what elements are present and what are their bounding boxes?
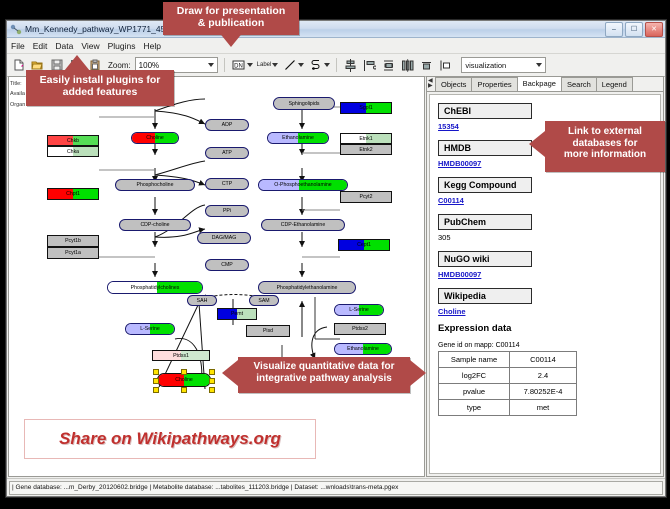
node-label: L-Serine [140,326,160,332]
window-titlebar: Mm_Kennedy_pathway_WP1771_45176.gpml – ☐… [7,21,665,38]
window-buttons: – ☐ ✕ [605,22,663,37]
gene-pcyt1b[interactable]: Pcyt1b [47,235,99,247]
gene-label: Pcyt1a [65,250,81,256]
gene-pisd[interactable]: Pisd [246,325,290,337]
db-head-wikipedia: Wikipedia [438,288,532,304]
db-block-nugo-wiki: NuGO wiki HMDB00097 [438,249,652,279]
db-head-pubchem: PubChem [438,214,532,230]
selection-handle[interactable] [181,387,187,393]
distribute-horizontal-icon[interactable] [400,58,415,73]
gene-etnk1[interactable]: Etnk1 [340,133,392,144]
selection-handle[interactable] [153,369,159,375]
gene-label: Sgpl1 [359,105,372,111]
db-head-chebi: ChEBI [438,103,532,119]
gene-label: Pcyt2 [360,194,373,200]
node-label: CMP [221,262,233,268]
gene-label: Etnk2 [359,147,372,153]
chevron-down-icon[interactable] [272,63,278,67]
visualization-value: visualization [465,61,506,70]
node-cmp[interactable]: CMP [205,259,249,271]
menu-file[interactable]: File [11,41,25,51]
callout-link-arrow [529,131,545,157]
line-tool[interactable] [282,58,304,73]
new-file-icon[interactable] [11,58,26,73]
gene-label: Etnk1 [359,136,372,142]
gene-label: Ptdss2 [352,326,368,332]
svg-text:DN: DN [234,63,243,69]
node-ppi[interactable]: PPi [205,205,249,217]
table-row: log2FC 2.4 [439,368,577,384]
callout-plugins-arrow [64,55,90,71]
db-value-pubchem: 305 [438,233,652,242]
db-head-hmdb: HMDB [438,140,532,156]
expression-data-heading: Expression data [438,323,652,334]
statusbar: | Gene database: ...m_Derby_20120602.bri… [7,478,665,496]
share-banner: Share on Wikipathways.org [24,419,316,459]
line-icon[interactable] [282,58,297,73]
pathvisio-icon [10,24,22,35]
maximize-button[interactable]: ☐ [625,22,643,37]
expr-val-sample-name: C00114 [510,352,577,368]
node-ctp[interactable]: CTP [205,178,249,190]
table-row: pvalue 7.80252E-4 [439,384,577,400]
db-link-wikipedia[interactable]: Choline [438,307,652,316]
node-label: Phosphatidylethanolamine [277,285,338,291]
gene-chpt1[interactable]: Chpt1 [47,188,99,200]
chevron-down-icon [208,63,214,67]
gene-label: Cept1 [357,242,371,248]
node-ethanolamine[interactable]: Ethanolamine [267,132,329,144]
tab-backpage[interactable]: Backpage [517,76,562,91]
chevron-down-icon[interactable] [298,63,304,67]
db-link-nugo-wiki[interactable]: HMDB00097 [438,270,652,279]
node-choline-top[interactable]: Choline [131,132,179,144]
node-label: ADP [222,122,233,128]
chevron-down-icon[interactable] [247,63,253,67]
tab-objects[interactable]: Objects [435,77,472,91]
callout-link: Link to external databases for more info… [545,121,665,172]
expr-val-pvalue: 7.80252E-4 [510,384,577,400]
shape-icon[interactable] [308,58,323,73]
tab-scroll-arrows[interactable]: ◀▶ [428,79,433,89]
minimize-button[interactable]: – [605,22,623,37]
gene-ptdss2[interactable]: Ptdss2 [334,323,386,335]
tab-legend[interactable]: Legend [596,77,633,91]
node-atp[interactable]: ATP [205,147,249,159]
gene-label: Ptdss1 [173,353,189,359]
node-label: SAM [258,298,269,304]
expr-key-sample-name: Sample name [439,352,510,368]
selection-handle[interactable] [209,378,215,384]
gene-etnk2[interactable]: Etnk2 [340,144,392,155]
node-label: CDP-choline [140,222,169,228]
node-label: L-Serine [349,307,369,313]
db-head-kegg-compound: Kegg Compound [438,177,532,193]
node-phosphatidylcholines[interactable]: Phosphatidylcholines [107,281,203,294]
node-o-phosphoethanolamine[interactable]: O-Phosphoethanolamine [258,179,348,191]
gene-id-line: Gene id on mapp: C00114 [438,342,652,349]
callout-plugins: Easily install plugins for added feature… [26,70,174,106]
expr-key-type: type [439,400,510,416]
screenshot-root: Mm_Kennedy_pathway_WP1771_45176.gpml – ☐… [0,0,670,509]
callout-visualize-line2: integrative pathway analysis [238,373,410,385]
gene-chka[interactable]: Chka [47,146,99,157]
callout-visualize-line1: Visualize quantitative data for [238,361,410,373]
callout-visualize-arrow-left [222,360,238,386]
table-row: type met [439,400,577,416]
align-left-icon[interactable] [362,58,377,73]
menubar: File Edit Data View Plugins Help [7,38,665,54]
stack-icon[interactable] [419,58,434,73]
node-cdp-ethanolamine[interactable]: CDP-Ethanolamine [261,219,345,231]
expr-val-log2fc: 2.4 [510,368,577,384]
node-label: Phosphatidylcholines [131,285,180,291]
shape-tool[interactable] [308,58,330,73]
zoom-label: Zoom: [108,61,131,70]
pathway-canvas[interactable]: Title: Availa Organ [8,76,425,477]
gene-label: Chpt1 [66,191,80,197]
menu-view[interactable]: View [81,41,99,51]
db-block-pubchem: PubChem 305 [438,212,652,242]
gene-label: Pemt [231,311,243,317]
gene-pcyt2[interactable]: Pcyt2 [340,191,392,203]
selection-handle[interactable] [209,369,215,375]
node-label: Ethanolamine [347,346,379,352]
node-ethanolamine-right[interactable]: Ethanolamine [334,343,392,355]
callout-plugins-line1: Easily install plugins for [26,74,174,86]
node-label: Sphingolipids [289,101,320,107]
db-link-kegg-compound[interactable]: C00114 [438,196,652,205]
callout-draw-line1: Draw for presentation [163,5,299,17]
callout-link-line2: databases for [545,138,665,150]
statusbar-text: | Gene database: ...m_Derby_20120602.bri… [9,481,663,495]
node-label: SAH [197,298,208,304]
node-label: Phosphocholine [137,182,174,188]
gene-pcyt1a[interactable]: Pcyt1a [47,247,99,259]
expression-table: Sample name C00114 log2FC 2.4 pvalue 7.8… [438,351,577,416]
node-label: DAG/MAG [212,235,237,241]
node-adp[interactable]: ADP [205,119,249,131]
node-label: Choline [146,135,164,141]
node-choline-selected[interactable]: Choline [157,373,211,387]
callout-draw-line2: & publication [163,17,299,29]
datanode-icon[interactable]: DN [231,58,246,73]
db-head-nugo-wiki: NuGO wiki [438,251,532,267]
node-phosphocholine[interactable]: Phosphocholine [115,179,195,191]
callout-visualize-arrow-right [410,360,426,386]
node-phosphatidylethanolamine[interactable]: Phosphatidylethanolamine [258,281,356,294]
gene-label: Chkb [67,138,79,144]
label-tool[interactable]: Label [257,62,279,68]
db-block-wikipedia: Wikipedia Choline [438,286,652,316]
gene-sgpl1[interactable]: Sgpl1 [340,102,392,114]
toolbar-separator [336,58,337,72]
zoom-value: 100% [139,61,159,70]
close-button[interactable]: ✕ [645,22,663,37]
expr-key-log2fc: log2FC [439,368,510,384]
gene-ptdss1[interactable]: Ptdss1 [152,350,210,361]
expr-val-type: met [510,400,577,416]
tab-properties[interactable]: Properties [471,77,517,91]
selection-handle[interactable] [181,369,187,375]
node-cdp-choline[interactable]: CDP-choline [119,219,191,231]
gene-cept1[interactable]: Cept1 [338,239,390,251]
node-label: ATP [222,150,232,156]
menu-help[interactable]: Help [144,41,161,51]
gene-label: Chka [67,149,79,155]
node-label: CDP-Ethanolamine [281,222,325,228]
menu-plugins[interactable]: Plugins [108,41,136,51]
callout-link-line3: more information [545,149,665,161]
distribute-vertical-icon[interactable] [381,58,396,73]
side-panel-tabs: ◀▶ Objects Properties Backpage Search Le… [427,77,663,92]
menu-data[interactable]: Data [55,41,73,51]
menu-edit[interactable]: Edit [33,41,48,51]
chevron-down-icon [536,63,542,67]
selection-handle[interactable] [153,387,159,393]
callout-link-line1: Link to external [545,126,665,138]
chevron-down-icon[interactable] [324,63,330,67]
node-l-serine-right[interactable]: L-Serine [334,304,384,316]
node-label: Choline [175,377,193,383]
selection-handle[interactable] [209,387,215,393]
group-icon[interactable] [438,58,453,73]
callout-draw-arrow [218,31,244,47]
callout-visualize: Visualize quantitative data for integrat… [238,357,410,393]
datanode-tool[interactable]: DN [231,58,253,73]
table-row: Sample name C00114 [439,352,577,368]
toolbar-separator [224,58,225,72]
node-sphingolipids[interactable]: Sphingolipids [273,97,335,110]
gene-label: Pisd [263,328,273,334]
expr-key-pvalue: pvalue [439,384,510,400]
align-center-icon[interactable] [343,58,358,73]
share-text: Share on Wikipathways.org [59,429,281,449]
node-label: CTP [222,181,232,187]
visualization-select[interactable]: visualization [461,57,546,73]
db-block-kegg-compound: Kegg Compound C00114 [438,175,652,205]
node-label: Ethanolamine [282,135,314,141]
gene-label: Pcyt1b [65,238,81,244]
node-label: O-Phosphoethanolamine [274,182,331,188]
node-sah[interactable]: SAH [187,295,217,306]
gene-pemt[interactable]: Pemt [217,308,257,320]
node-label: PPi [223,208,231,214]
selection-handle[interactable] [153,378,159,384]
tab-search[interactable]: Search [561,77,597,91]
label-tool-text: Label [257,62,272,68]
node-sam[interactable]: SAM [249,295,279,306]
node-l-serine-left[interactable]: L-Serine [125,323,175,335]
gene-chkb[interactable]: Chkb [47,135,99,146]
node-dag-mag[interactable]: DAG/MAG [197,232,251,244]
callout-plugins-line2: added features [26,86,174,98]
